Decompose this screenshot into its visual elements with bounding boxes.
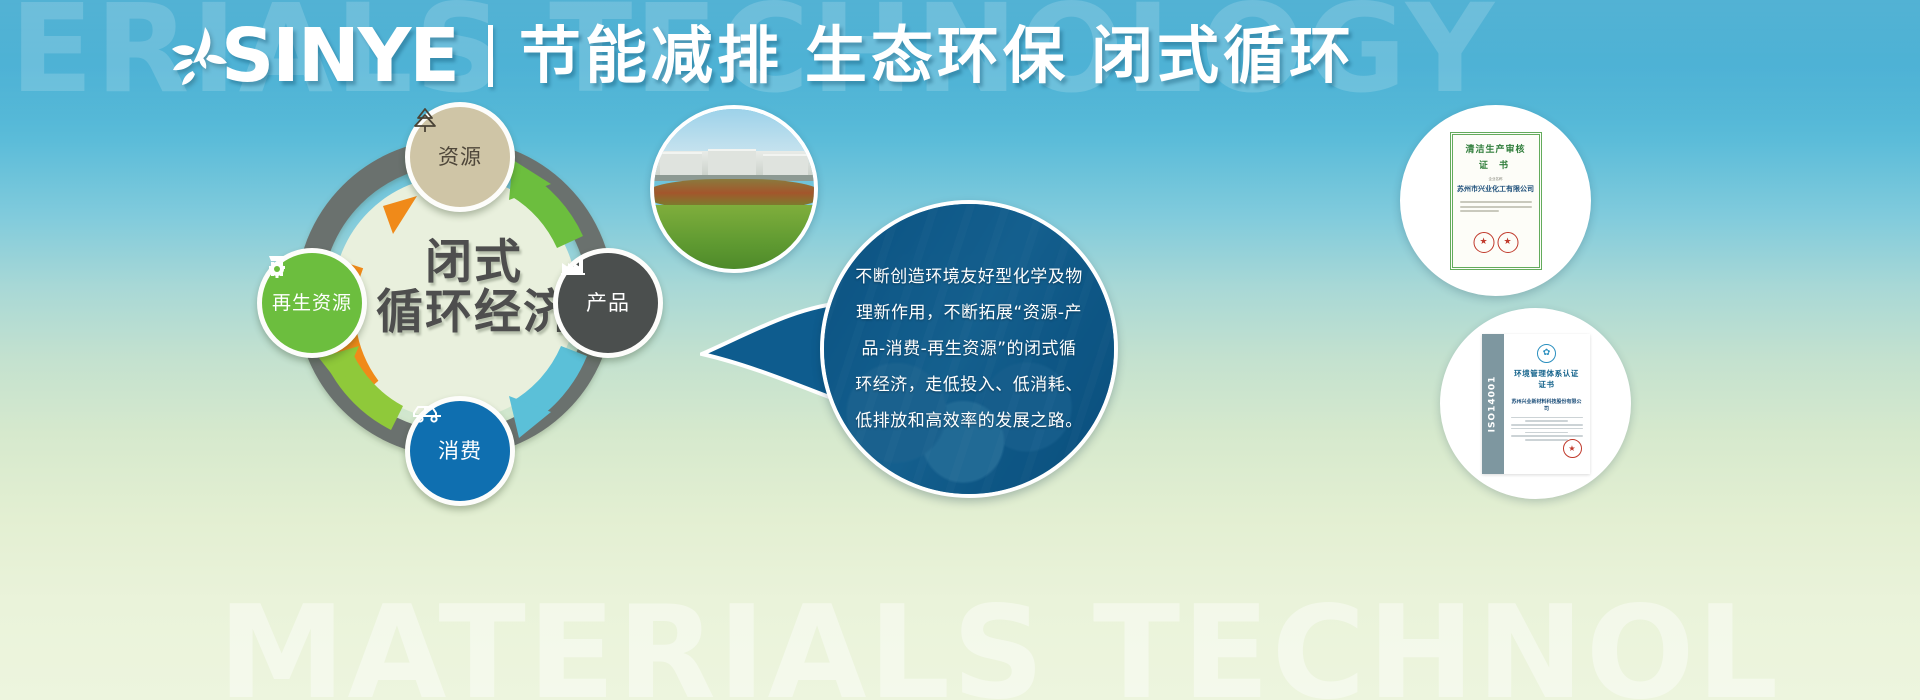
closed-loop-cycle-diagram: 闭式 循环经济 资源: [265, 108, 645, 488]
cycle-node-recycle-label: 再生资源: [272, 294, 352, 313]
cycle-node-recycle[interactable]: 再生资源: [257, 248, 367, 358]
cycle-node-resource[interactable]: 资源: [405, 102, 515, 212]
slogan-part-1: 节能减排: [519, 19, 783, 92]
certificate-1-company: 苏州市兴业化工有限公司: [1457, 184, 1534, 194]
slogan-part-3: 闭式循环: [1091, 19, 1355, 92]
certificate-1-seal-right: ★: [1497, 232, 1518, 253]
banner-stage: ERIALS TECHNOLOGY MATERIALS TECHNOL SINY…: [0, 0, 1920, 700]
center-line-1: 闭式: [361, 238, 587, 288]
bubble-line-1: 不断创造环境友好型化学及物: [855, 269, 1083, 286]
bubble-text-block: 不断创造环境友好型化学及物 理新作用，不断拓展“资源-产 品-消费-再生资源”的…: [824, 204, 1114, 494]
header-slogan: 节能减排生态环保闭式循环: [519, 25, 1355, 87]
bubble-circle: 不断创造环境友好型化学及物 理新作用，不断拓展“资源-产 品-消费-再生资源”的…: [820, 200, 1118, 498]
bubble-line-5: 低排放和高效率的发展之路。: [855, 413, 1083, 430]
certificate-2-title: 环境管理体系认证证书: [1511, 368, 1583, 390]
slogan-part-2: 生态环保: [805, 19, 1069, 92]
certificate-2-paper: ISO14001 ✿ 环境管理体系认证证书 苏州兴业新材料科技股份有限公司 ★: [1482, 334, 1590, 474]
bubble-line-4: 环经济，走低投入、低消耗、: [855, 377, 1083, 394]
certificate-clean-production[interactable]: 清洁生产审核 证 书 企业名称 苏州市兴业化工有限公司 ★ ★: [1400, 105, 1591, 296]
flower-splash-icon: [165, 25, 233, 91]
certificate-2-body-lines: [1511, 417, 1583, 441]
cycle-node-product-label: 产品: [586, 293, 630, 314]
certificate-2-logo-icon: ✿: [1537, 344, 1556, 363]
bubble-line-3: 品-消费-再生资源”的闭式循: [861, 341, 1076, 358]
photo-building-2: [708, 149, 756, 177]
cycle-node-product[interactable]: 产品: [553, 248, 663, 358]
certificate-2-company: 苏州兴业新材料科技股份有限公司: [1511, 398, 1583, 412]
factory-icon: [558, 253, 588, 277]
bubble-line-2: 理新作用，不断拓展“资源-产: [856, 305, 1082, 322]
recycle-bin-icon: [262, 253, 292, 279]
certificate-iso-14001[interactable]: ISO14001 ✿ 环境管理体系认证证书 苏州兴业新材料科技股份有限公司 ★: [1440, 308, 1631, 499]
certificate-2-seal: ★: [1563, 439, 1582, 458]
cycle-node-resource-label: 资源: [438, 147, 482, 168]
tree-icon: [410, 107, 440, 133]
certificate-1-small-label: 企业名称: [1489, 177, 1503, 182]
cycle-node-consume[interactable]: 消费: [405, 396, 515, 506]
car-icon: [410, 401, 444, 425]
photo-building-3: [763, 154, 808, 177]
certificate-1-seal-left: ★: [1473, 232, 1494, 253]
header-divider: [488, 25, 493, 87]
cycle-center-label: 闭式 循环经济: [361, 238, 587, 338]
certificate-1-subtitle: 证 书: [1479, 158, 1512, 171]
certificate-1-title: 清洁生产审核: [1465, 144, 1525, 156]
cycle-node-consume-label: 消费: [438, 441, 482, 462]
certificate-1-seals: ★ ★: [1473, 232, 1518, 253]
certificate-1-paper: 清洁生产审核 证 书 企业名称 苏州市兴业化工有限公司 ★ ★: [1450, 132, 1542, 270]
photo-building-1: [660, 152, 702, 176]
certificate-1-body-lines: [1460, 199, 1532, 215]
certificate-2-band: ISO14001: [1482, 334, 1504, 474]
certificate-2-band-text: ISO14001: [1488, 375, 1498, 432]
banner-header: SINYE 节能减排生态环保闭式循环: [165, 10, 1355, 102]
statement-bubble: 不断创造环境友好型化学及物 理新作用，不断拓展“资源-产 品-消费-再生资源”的…: [700, 200, 1120, 600]
brand-wordmark: SINYE: [221, 19, 458, 93]
